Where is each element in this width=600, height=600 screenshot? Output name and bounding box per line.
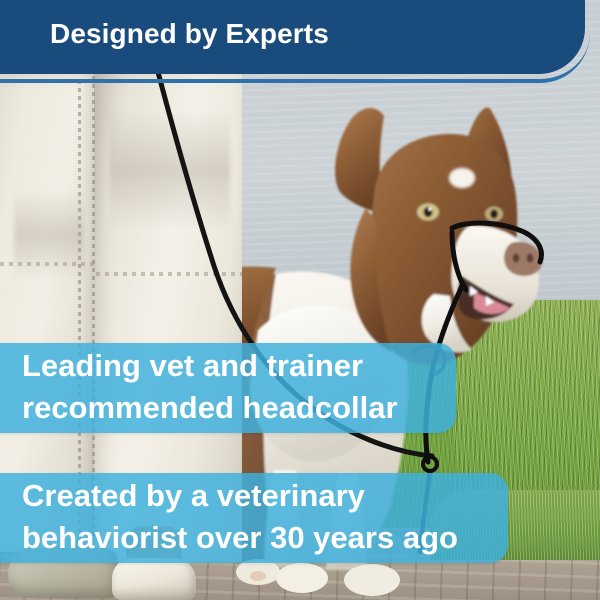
banner-vet-trainer-line-1: Leading vet and trainer (22, 345, 456, 387)
banner-behaviorist-line-1: Created by a veterinary (22, 475, 508, 517)
banner-behaviorist-line-2: behaviorist over 30 years ago (22, 517, 508, 559)
header-title: Designed by Experts (50, 18, 329, 50)
banner-vet-trainer: Leading vet and trainer recommended head… (0, 343, 456, 433)
banner-behaviorist: Created by a veterinary behaviorist over… (0, 473, 508, 563)
product-feature-image: Designed by Experts Leading vet and trai… (0, 0, 600, 600)
banner-vet-trainer-line-2: recommended headcollar (22, 387, 456, 429)
